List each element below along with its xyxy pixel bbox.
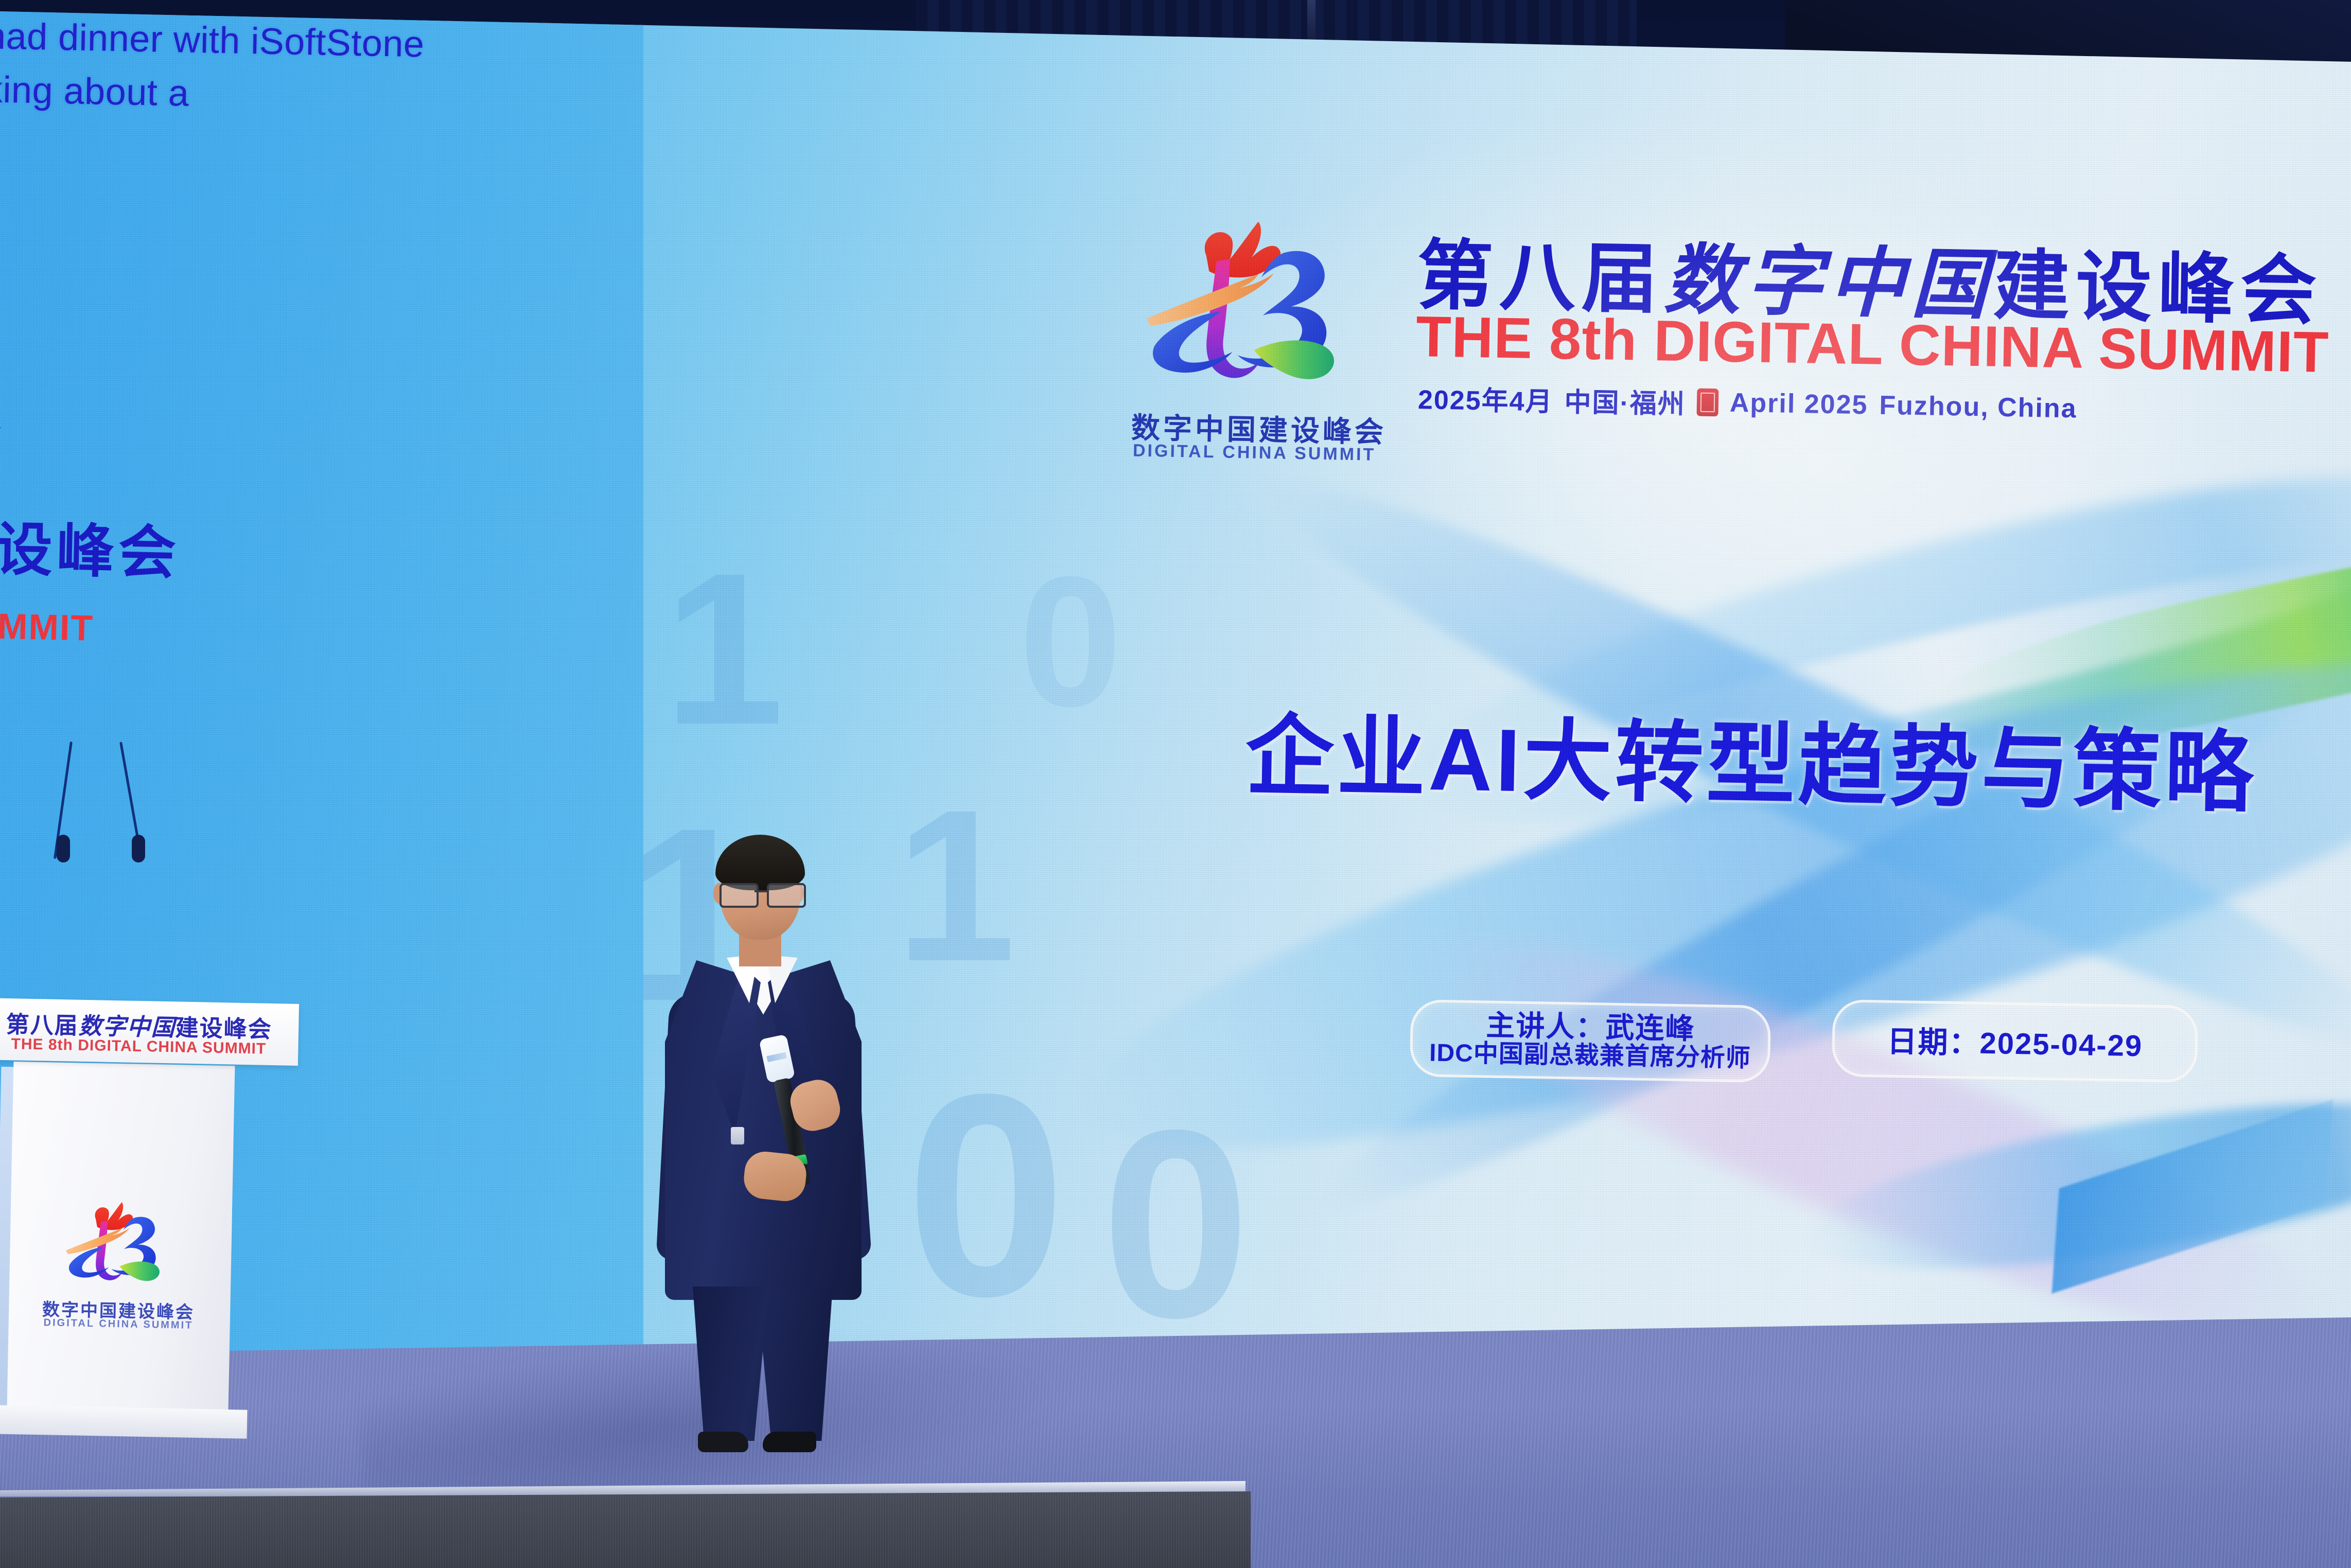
speaker-podium: 数字中国建设峰会 DIGITAL CHINA SUMMIT 第八届数字中国建设峰…	[0, 1001, 309, 1454]
binary-digit-watermark: 0	[1101, 1070, 1250, 1378]
conference-stage-photo: 1 1 1 0 0 0 had dinner with iSoftStone k…	[0, 0, 2351, 1568]
mic-head	[57, 835, 70, 862]
emblem-subtitle-en: DIGITAL CHINA SUMMIT	[1131, 441, 1378, 465]
left-panel-fragment-en: NA SUMMIT	[0, 603, 273, 653]
speaker-info-pill: 主讲人：武连峰 IDC中国副总裁兼首席分析师	[1410, 999, 1771, 1083]
podium-name-plate: 第八届数字中国建设峰会 THE 8th DIGITAL CHINA SUMMIT	[0, 998, 299, 1066]
binary-digit-watermark: 1	[896, 762, 1016, 1010]
summit-branding-lockup: 数字中国建设峰会 DIGITAL CHINA SUMMIT 第八届数字中国建设峰…	[1125, 203, 2351, 543]
date-info-pill: 日期：2025-04-29	[1832, 999, 2199, 1083]
summit-date-en: April 2025	[1729, 387, 1868, 420]
eyeglass-bridge	[755, 890, 767, 892]
presentation-title: 企业AI大转型趋势与策略	[1244, 683, 2257, 830]
person-trousers	[693, 1287, 833, 1441]
podium-emblem-icon	[56, 1188, 186, 1309]
speaker-name-line: 主讲人：武连峰	[1486, 1011, 1695, 1045]
person-hair	[715, 835, 805, 890]
summit-date-cn: 2025年4月	[1417, 378, 1553, 419]
ribbon-graphic-deep-blue-wedge	[2052, 1099, 2334, 1293]
presentation-date-line: 日期：2025-04-29	[1887, 1017, 2143, 1065]
podium-base	[0, 1405, 247, 1439]
stage-apron-front	[0, 1491, 1251, 1568]
summit-place-en: Fuzhou, China	[1879, 390, 2077, 424]
binary-digit-watermark: 1	[664, 525, 784, 773]
mic-head	[132, 835, 145, 862]
binary-digit-watermark: 0	[1019, 535, 1122, 748]
eyeglass-lens-left	[720, 883, 759, 908]
ribbon-graphic-blue-sweep	[1047, 571, 2351, 1240]
eyeglasses-icon	[717, 883, 806, 906]
caption-overlay: had dinner with iSoftStone king about a	[0, 9, 624, 129]
seal-icon	[1696, 388, 1718, 416]
speaker-person	[654, 839, 870, 1446]
speaker-title-line: IDC中国副总裁兼首席分析师	[1429, 1040, 1751, 1073]
summit-place-cn: 中国·福州	[1564, 380, 1686, 421]
apron-texture	[0, 1491, 1251, 1568]
ribbon-graphic-teal	[1795, 1070, 2351, 1302]
person-shoe-right	[763, 1432, 816, 1452]
eyeglass-lens-right	[767, 883, 806, 908]
person-shoe-left	[698, 1432, 748, 1452]
person-pocket-badge	[731, 1127, 744, 1144]
podium-plate-cn-suffix: 建设峰会	[175, 1014, 272, 1043]
led-video-wall: 1 1 1 0 0 0 had dinner with iSoftStone k…	[0, 0, 2351, 1359]
left-panel-fragment-cn: 国建设峰会	[0, 500, 264, 592]
podium-plate-cn-prefix: 第八届	[6, 1011, 79, 1039]
summit-date-place-line: 2025年4月 中国·福州 April 2025 Fuzhou, China	[1417, 378, 2077, 428]
